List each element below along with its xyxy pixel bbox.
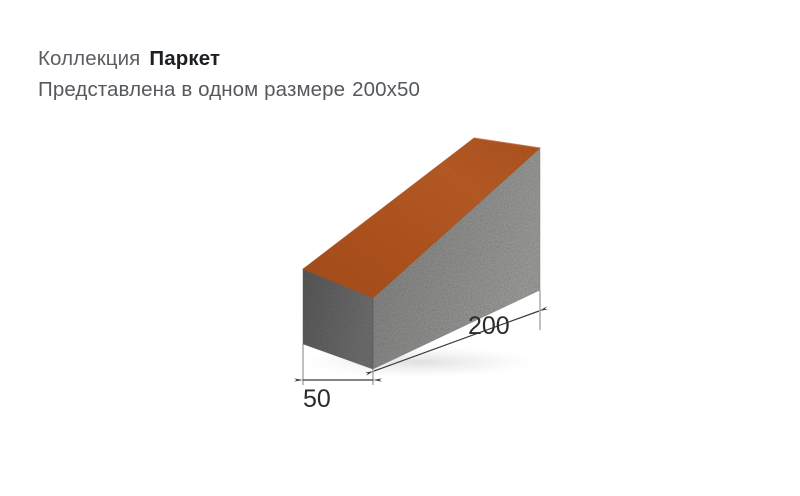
paving-stone-svg: 200 50 xyxy=(0,0,800,496)
paving-stone-illustration: 200 50 xyxy=(0,0,800,496)
dimension-label-length: 200 xyxy=(468,312,510,340)
product-illustration-page: КоллекцияПаркет Представлена в одном раз… xyxy=(0,0,800,496)
dimension-label-width: 50 xyxy=(303,385,331,413)
